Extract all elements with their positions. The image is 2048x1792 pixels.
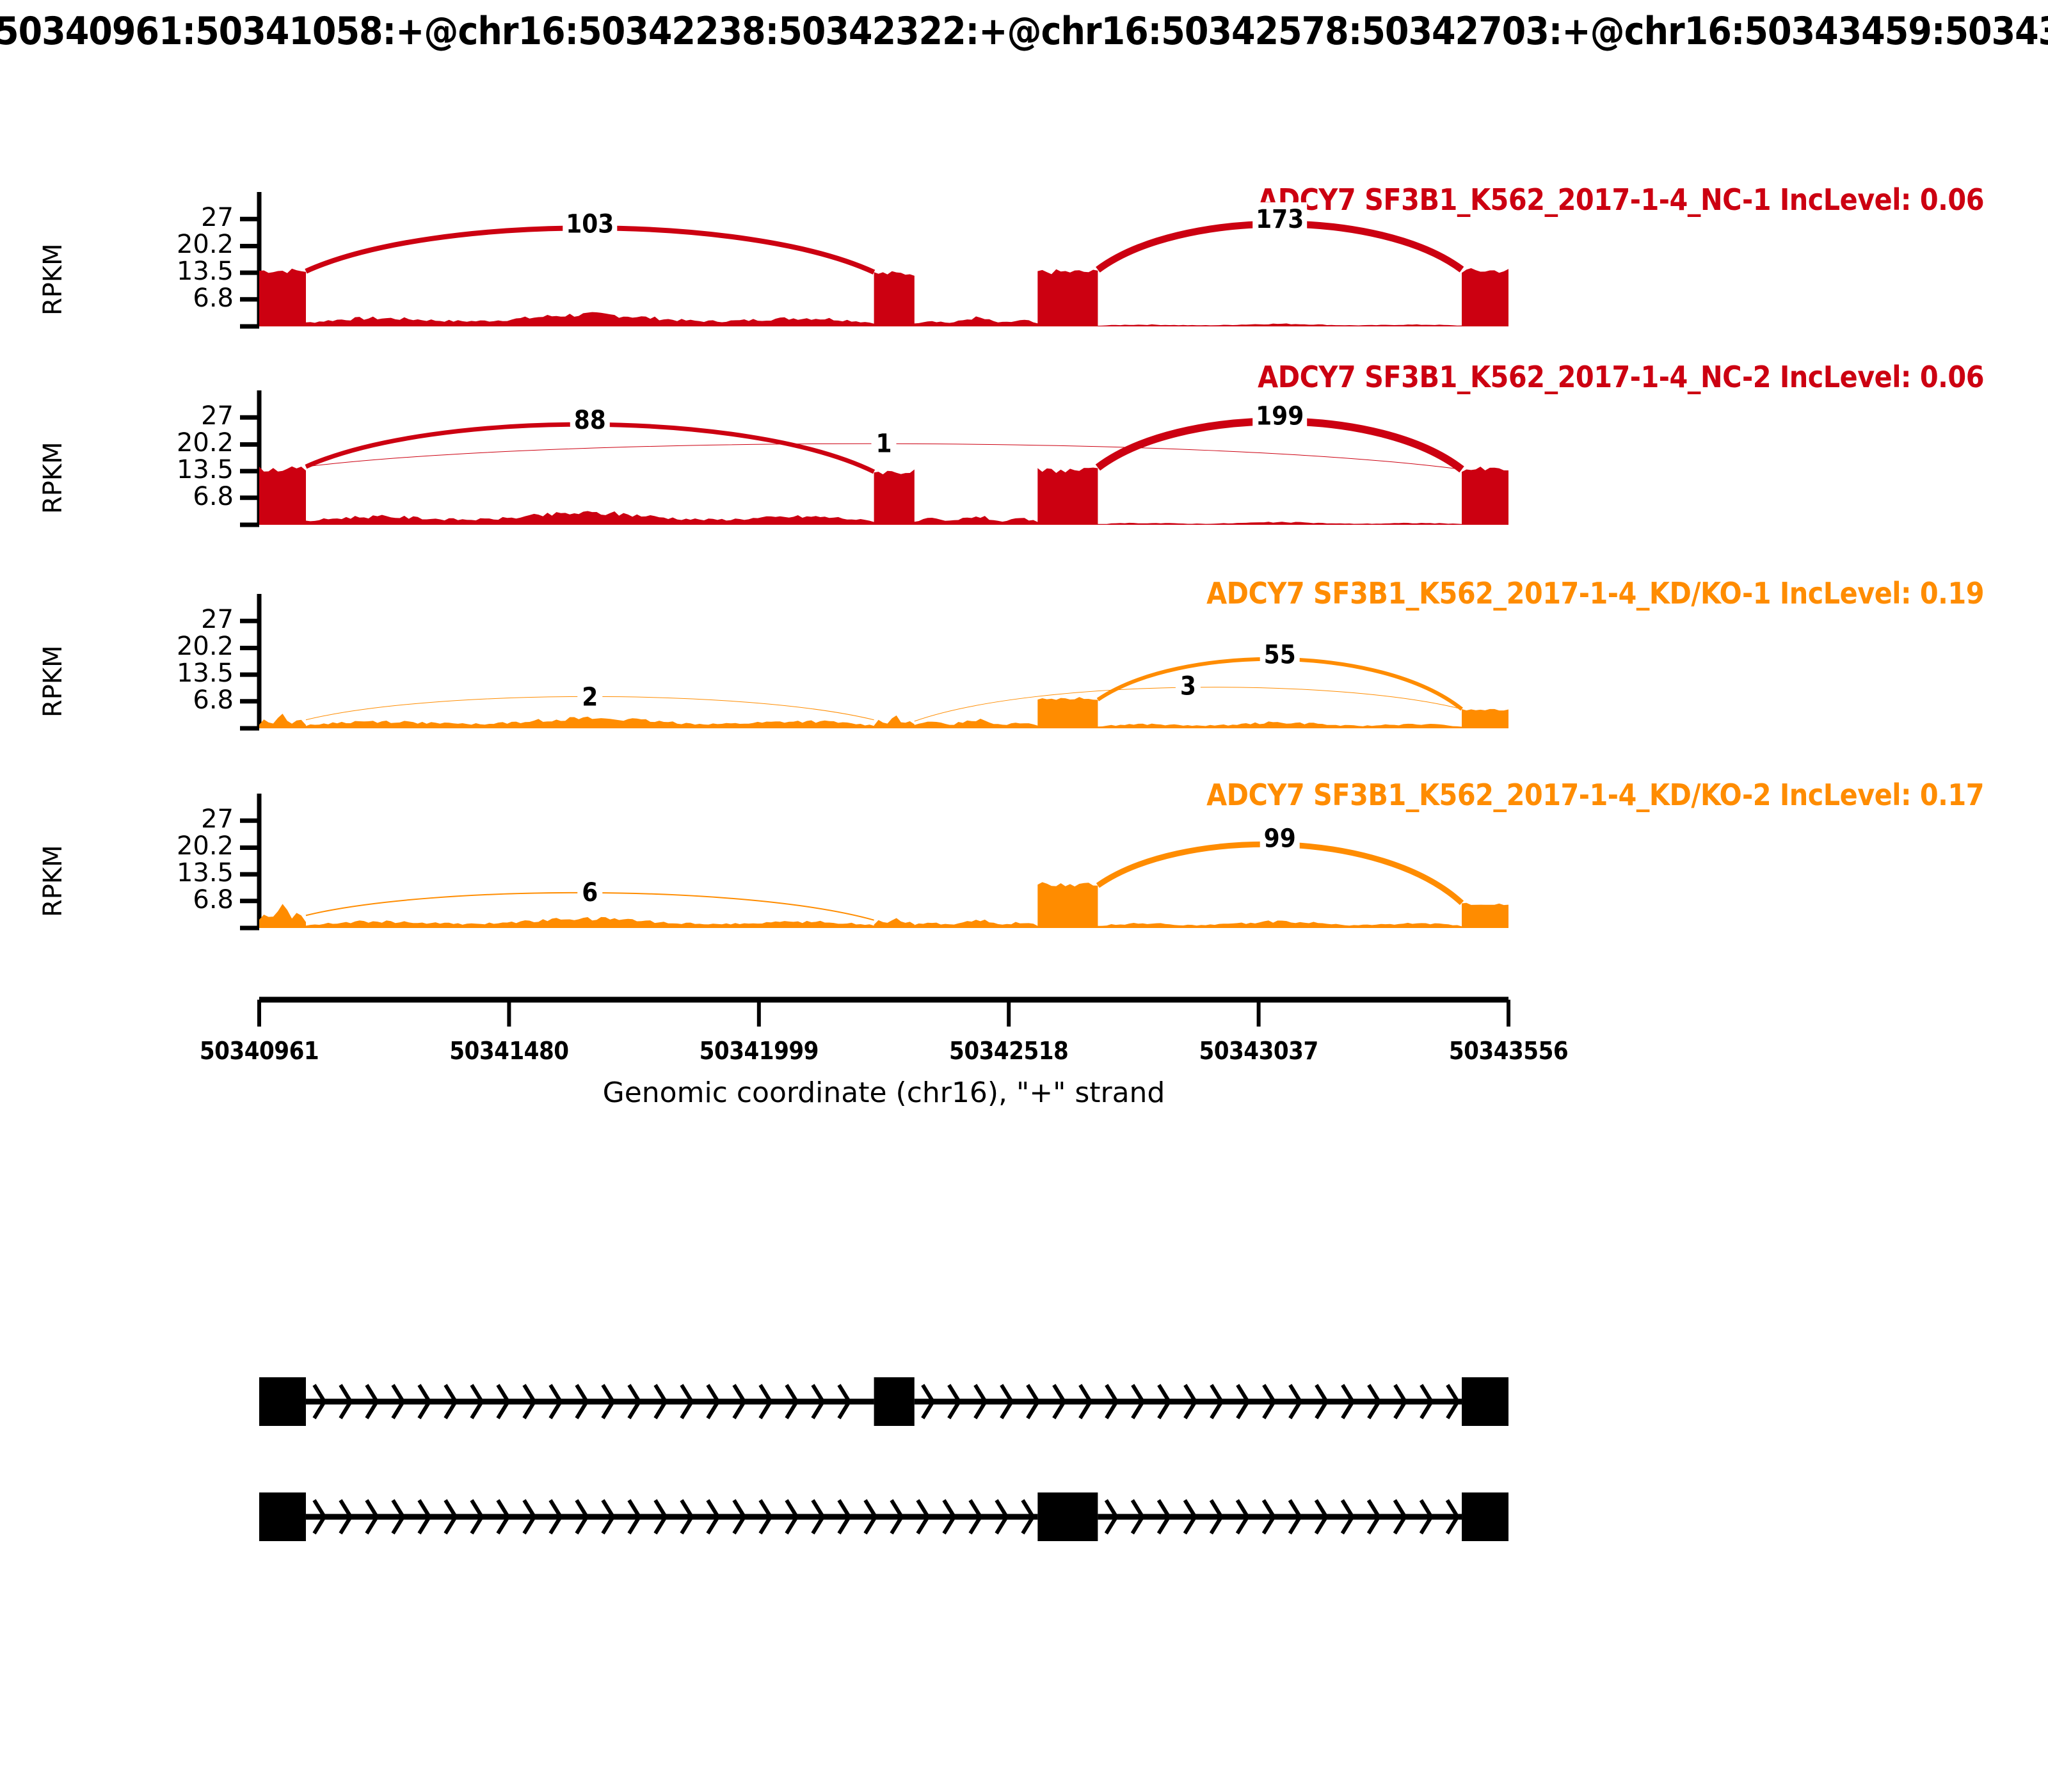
strand-arrow-icon	[918, 1500, 928, 1533]
strand-arrow-icon	[923, 1385, 933, 1418]
strand-arrow-icon	[524, 1500, 534, 1533]
strand-arrow-icon	[603, 1385, 613, 1418]
junction-label-halo	[570, 403, 610, 436]
strand-arrow-icon	[1212, 1385, 1222, 1418]
strand-arrow-icon	[682, 1385, 692, 1418]
track-title-4: ADCY7 SF3B1_K562_2017-1-4_KD/KO-2 IncLev…	[1206, 778, 1984, 812]
strand-arrow-icon	[813, 1500, 823, 1533]
strand-arrow-icon	[1421, 1385, 1432, 1418]
strand-arrow-icon	[1395, 1385, 1405, 1418]
track-title-2: ADCY7 SF3B1_K562_2017-1-4_NC-2 IncLevel:…	[1258, 360, 1984, 394]
strand-arrow-icon	[524, 1385, 534, 1418]
strand-arrow-icon	[393, 1385, 403, 1418]
strand-arrow-icon	[996, 1500, 1007, 1533]
track-canvas-3: 2355	[0, 0, 2048, 1792]
strand-arrow-icon	[498, 1500, 508, 1533]
strand-arrow-icon	[1080, 1385, 1091, 1418]
strand-arrow-icon	[577, 1500, 587, 1533]
strand-arrow-icon	[734, 1385, 744, 1418]
strand-arrow-icon	[1316, 1385, 1327, 1418]
junction-count-label: 88	[574, 406, 606, 435]
x-tick-label: 50341480	[449, 1037, 568, 1065]
y-tick-label: 27	[67, 205, 234, 230]
strand-arrow-icon	[1132, 1500, 1142, 1533]
strand-arrow-icon	[1448, 1385, 1458, 1418]
junction-label-halo	[872, 427, 897, 460]
strand-arrow-icon	[550, 1385, 561, 1418]
junction-arc	[306, 696, 874, 719]
strand-arrow-icon	[865, 1500, 876, 1533]
strand-arrow-icon	[1237, 1500, 1247, 1533]
track-title-1: ADCY7 SF3B1_K562_2017-1-4_NC-1 IncLevel:…	[1258, 182, 1984, 217]
strand-arrow-icon	[1238, 1385, 1248, 1418]
junction-count-label: 2	[582, 682, 598, 712]
strand-arrow-icon	[629, 1385, 639, 1418]
junction-arc	[306, 444, 1462, 469]
junction-arc	[1098, 224, 1462, 270]
strand-arrow-icon	[1290, 1385, 1300, 1418]
junction-arc	[1098, 421, 1462, 469]
y-tick-label: 6.8	[67, 285, 234, 311]
junction-count-label: 99	[1264, 824, 1296, 854]
strand-arrow-icon	[472, 1385, 482, 1418]
strand-arrow-icon	[1447, 1500, 1457, 1533]
event-coordinate-text: chr16:50340961:50341058:+@chr16:50342238…	[0, 9, 2048, 54]
y-tick-label: 6.8	[67, 484, 234, 509]
strand-arrow-icon	[629, 1500, 639, 1533]
track-canvas-4: 699	[0, 0, 2048, 1792]
coverage-area	[259, 268, 1508, 326]
x-axis-title: Genomic coordinate (chr16), "+" strand	[603, 1076, 1165, 1109]
x-tick-label: 50343556	[1449, 1037, 1568, 1065]
junction-count-label: 1	[876, 429, 892, 459]
strand-arrow-icon	[949, 1385, 959, 1418]
strand-arrow-icon	[1054, 1385, 1064, 1418]
strand-arrow-icon	[1023, 1500, 1033, 1533]
strand-arrow-icon	[839, 1385, 849, 1418]
x-tick-label: 50342518	[949, 1037, 1068, 1065]
strand-arrow-icon	[1211, 1500, 1221, 1533]
y-axis-label-4: RPKM	[38, 845, 68, 918]
strand-arrow-icon	[734, 1500, 744, 1533]
strand-arrow-icon	[367, 1500, 377, 1533]
strand-arrow-icon	[1133, 1385, 1143, 1418]
strand-arrow-icon	[1264, 1385, 1274, 1418]
y-tick-label: 27	[67, 403, 234, 429]
x-tick-label: 50340961	[200, 1037, 319, 1065]
strand-arrow-icon	[1290, 1500, 1300, 1533]
y-tick-label: 27	[67, 806, 234, 832]
strand-arrow-icon	[970, 1500, 980, 1533]
strand-arrow-icon	[498, 1385, 508, 1418]
y-tick-label: 20.2	[67, 833, 234, 859]
strand-arrow-icon	[682, 1500, 692, 1533]
strand-arrow-icon	[787, 1385, 797, 1418]
strand-arrow-icon	[340, 1385, 351, 1418]
junction-arc	[1098, 844, 1462, 903]
strand-arrow-icon	[760, 1500, 771, 1533]
junction-count-label: 103	[566, 210, 614, 239]
y-axis-label-3: RPKM	[38, 646, 68, 718]
exon-box	[874, 1377, 915, 1426]
junction-label-halo	[577, 680, 602, 713]
junction-count-label: 6	[582, 878, 598, 908]
strand-arrow-icon	[944, 1500, 954, 1533]
strand-arrow-icon	[1316, 1500, 1326, 1533]
strand-arrow-icon	[1263, 1500, 1274, 1533]
y-tick-label: 13.5	[67, 660, 234, 686]
coverage-area	[259, 697, 1508, 728]
y-tick-label: 13.5	[67, 860, 234, 886]
exon-box	[1462, 1377, 1508, 1426]
strand-arrow-icon	[1107, 1385, 1117, 1418]
strand-arrow-icon	[603, 1500, 613, 1533]
y-tick-label: 27	[67, 607, 234, 632]
strand-arrow-icon	[472, 1500, 482, 1533]
strand-arrow-icon	[367, 1385, 377, 1418]
strand-arrow-icon	[419, 1500, 429, 1533]
y-axis-label-2: RPKM	[38, 442, 68, 515]
x-tick-label: 50341999	[700, 1037, 819, 1065]
x-tick-label: 50343037	[1199, 1037, 1318, 1065]
y-tick-label: 20.2	[67, 232, 234, 257]
strand-arrow-icon	[340, 1500, 351, 1533]
strand-arrow-icon	[1002, 1385, 1012, 1418]
strand-arrow-icon	[1395, 1500, 1405, 1533]
strand-arrow-icon	[1369, 1385, 1379, 1418]
coverage-area	[259, 882, 1508, 928]
junction-label-halo	[1260, 637, 1300, 671]
strand-arrow-icon	[314, 1500, 324, 1533]
strand-arrow-icon	[975, 1385, 986, 1418]
strand-arrow-icon	[1028, 1385, 1038, 1418]
strand-arrow-icon	[708, 1385, 718, 1418]
y-tick-label: 13.5	[67, 457, 234, 483]
y-tick-label: 20.2	[67, 430, 234, 456]
strand-arrow-icon	[813, 1385, 823, 1418]
x-axis-canvas	[0, 0, 2048, 1792]
junction-label-halo	[1252, 399, 1307, 433]
y-tick-label: 13.5	[67, 259, 234, 284]
strand-arrow-icon	[314, 1385, 324, 1418]
strand-arrow-icon	[1421, 1500, 1431, 1533]
event-coordinate-header: chr16:50340961:50341058:+@chr16:50342238…	[0, 0, 2048, 77]
junction-label-halo	[563, 207, 617, 241]
strand-arrow-icon	[1342, 1500, 1352, 1533]
strand-arrow-icon	[655, 1500, 666, 1533]
junction-arc	[306, 228, 874, 272]
strand-arrow-icon	[1158, 1500, 1169, 1533]
y-axis-label-1: RPKM	[38, 244, 68, 316]
y-tick-label: 6.8	[67, 687, 234, 713]
strand-arrow-icon	[1185, 1500, 1195, 1533]
junction-arc	[306, 893, 874, 920]
strand-arrow-icon	[445, 1385, 456, 1418]
strand-arrow-icon	[393, 1500, 403, 1533]
track-title-3: ADCY7 SF3B1_K562_2017-1-4_KD/KO-1 IncLev…	[1206, 576, 1984, 611]
y-tick-label: 6.8	[67, 887, 234, 913]
strand-arrow-icon	[445, 1500, 456, 1533]
junction-count-label: 199	[1256, 402, 1304, 431]
junction-label-halo	[1176, 669, 1201, 703]
junction-count-label: 3	[1180, 672, 1196, 701]
isoform-canvas	[0, 0, 2048, 1792]
strand-arrow-icon	[708, 1500, 718, 1533]
junction-arc	[1098, 659, 1462, 709]
isoform-1	[259, 1377, 1508, 1426]
strand-arrow-icon	[419, 1385, 429, 1418]
strand-arrow-icon	[550, 1500, 561, 1533]
exon-box	[1037, 1492, 1098, 1541]
coverage-area	[259, 467, 1508, 525]
sashimi-plot-root: chr16:50340961:50341058:+@chr16:50342238…	[0, 0, 2048, 1792]
strand-arrow-icon	[1368, 1500, 1379, 1533]
strand-arrow-icon	[577, 1385, 587, 1418]
strand-arrow-icon	[1185, 1385, 1196, 1418]
junction-label-halo	[577, 876, 602, 909]
junction-arc	[915, 687, 1462, 721]
strand-arrow-icon	[1106, 1500, 1116, 1533]
strand-arrow-icon	[839, 1500, 849, 1533]
strand-arrow-icon	[892, 1500, 902, 1533]
strand-arrow-icon	[655, 1385, 666, 1418]
exon-box	[259, 1492, 306, 1541]
strand-arrow-icon	[787, 1500, 797, 1533]
junction-arc	[306, 424, 874, 472]
exon-box	[259, 1377, 306, 1426]
isoform-2	[259, 1492, 1508, 1541]
junction-count-label: 55	[1264, 640, 1296, 669]
strand-arrow-icon	[1159, 1385, 1169, 1418]
junction-label-halo	[1260, 822, 1300, 855]
strand-arrow-icon	[1343, 1385, 1353, 1418]
track-canvas-2: 881991	[0, 0, 2048, 1792]
track-canvas-1: 103173	[0, 0, 2048, 1792]
strand-arrow-icon	[760, 1385, 771, 1418]
exon-box	[1462, 1492, 1508, 1541]
y-tick-label: 20.2	[67, 634, 234, 659]
